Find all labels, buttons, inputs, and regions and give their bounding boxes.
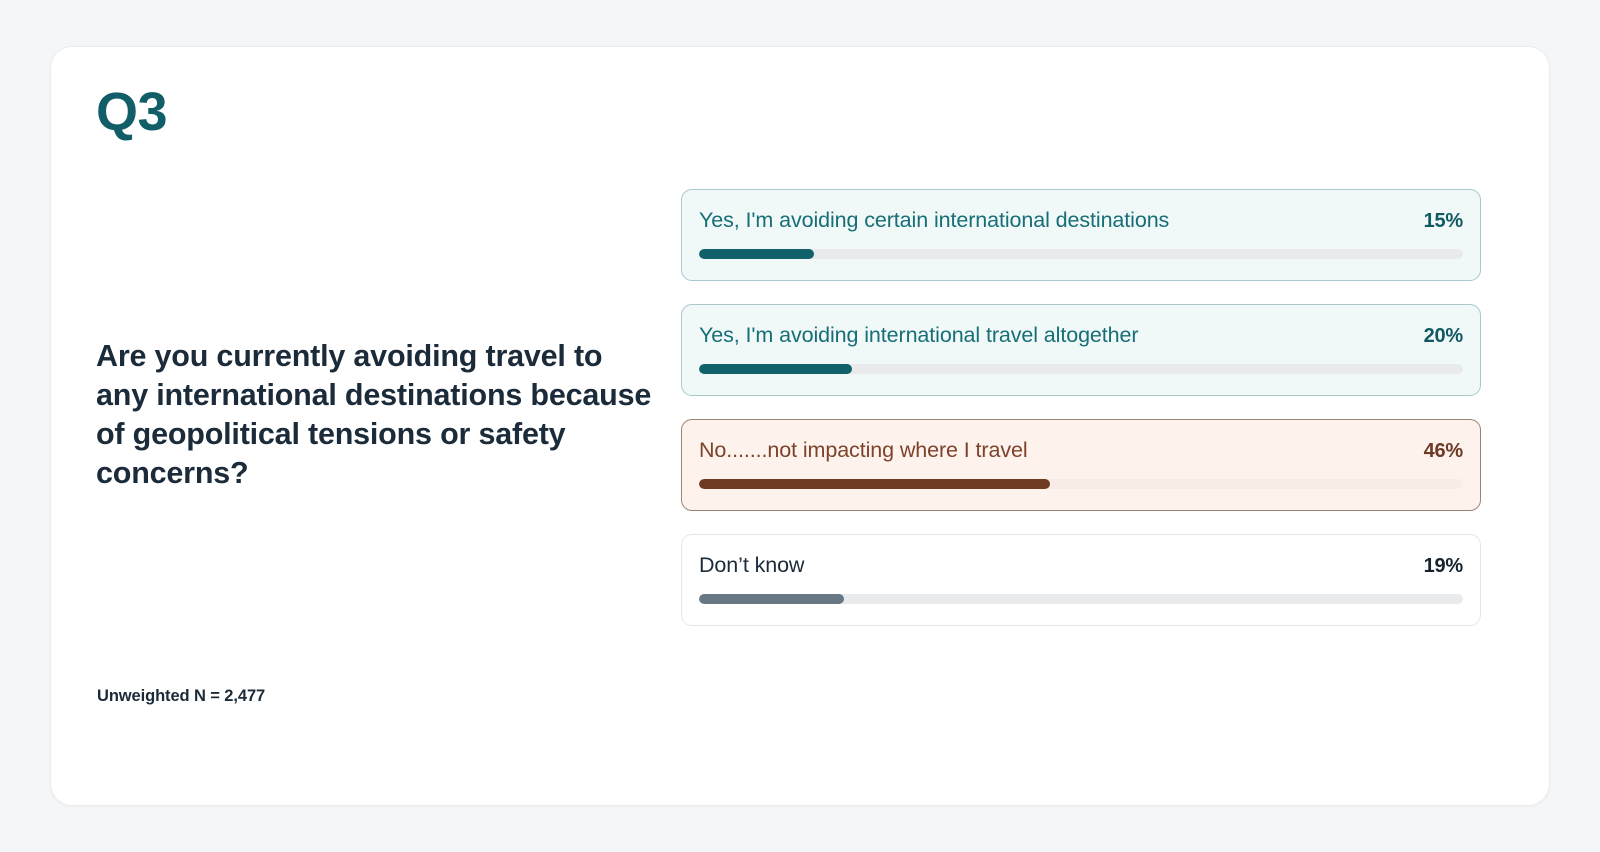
answer-row[interactable]: Yes, I'm avoiding international travel a… <box>681 304 1481 396</box>
survey-question-card: Q3 Are you currently avoiding travel to … <box>50 46 1550 806</box>
answer-row[interactable]: Yes, I'm avoiding certain international … <box>681 189 1481 281</box>
answer-bar-track <box>699 364 1463 374</box>
answer-bar-track <box>699 479 1463 489</box>
answer-bar-track <box>699 594 1463 604</box>
answer-row-header: Yes, I'm avoiding international travel a… <box>699 325 1463 347</box>
answer-percentage: 20% <box>1410 326 1463 346</box>
answer-label: No.......not impacting where I travel <box>699 440 1028 462</box>
answer-bar-fill <box>699 249 814 259</box>
answer-row-header: Yes, I'm avoiding certain international … <box>699 210 1463 232</box>
answer-row-header: No.......not impacting where I travel46% <box>699 440 1463 462</box>
question-number: Q3 <box>96 85 676 139</box>
answer-row-header: Don’t know19% <box>699 555 1463 577</box>
answer-bar-fill <box>699 479 1050 489</box>
unweighted-n-footnote: Unweighted N = 2,477 <box>97 687 265 706</box>
answer-percentage: 19% <box>1410 556 1463 576</box>
answer-percentage: 15% <box>1410 211 1463 231</box>
question-text: Are you currently avoiding travel to any… <box>96 337 656 493</box>
answer-label: Yes, I'm avoiding certain international … <box>699 210 1169 232</box>
answer-row[interactable]: No.......not impacting where I travel46% <box>681 419 1481 511</box>
answer-bar-fill <box>699 594 844 604</box>
page: Q3 Are you currently avoiding travel to … <box>0 0 1600 852</box>
answer-row[interactable]: Don’t know19% <box>681 534 1481 626</box>
answer-bar-fill <box>699 364 852 374</box>
question-header: Q3 <box>96 85 676 139</box>
answer-label: Yes, I'm avoiding international travel a… <box>699 325 1138 347</box>
answer-bar-track <box>699 249 1463 259</box>
answer-label: Don’t know <box>699 555 804 577</box>
answer-list: Yes, I'm avoiding certain international … <box>681 189 1481 626</box>
answer-percentage: 46% <box>1410 441 1463 461</box>
